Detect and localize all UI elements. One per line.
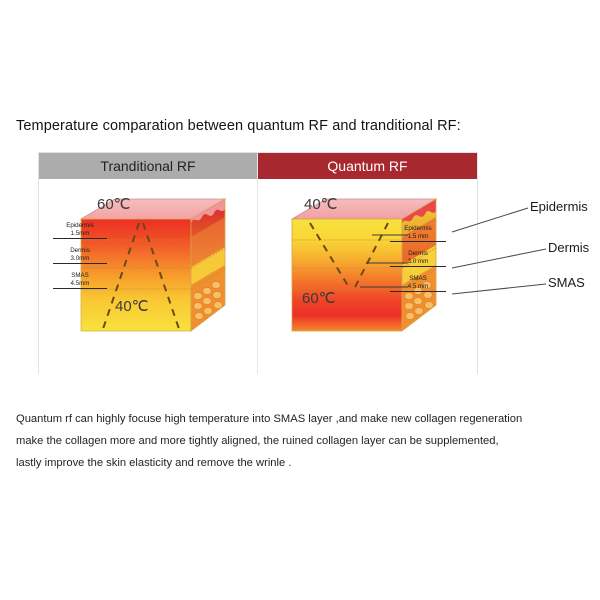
temperature-top-quantum: 40℃ bbox=[304, 195, 338, 213]
callout-label-dermis: Dermis bbox=[548, 240, 589, 255]
description-line-3: lastly improve the skin elasticity and r… bbox=[16, 452, 586, 474]
layer-name: Epidermis bbox=[53, 222, 107, 230]
layer-epidermis-quantum: Epidermis 1.5 mm bbox=[390, 225, 446, 242]
layer-dermis-quantum: Dermis 3.0 mm bbox=[390, 250, 446, 267]
layer-smas-traditional: SMAS 4.5mm bbox=[53, 272, 107, 289]
temperature-bottom-traditional: 40℃ bbox=[115, 297, 149, 315]
layer-epidermis-traditional: Epidermis 1.5mm bbox=[53, 222, 107, 239]
layer-name: SMAS bbox=[390, 275, 446, 283]
temperature-top-traditional: 60℃ bbox=[97, 195, 131, 213]
column-header-traditional: Tranditional RF bbox=[39, 153, 257, 179]
layer-name: SMAS bbox=[53, 272, 107, 280]
page-title: Temperature comparation between quantum … bbox=[16, 118, 461, 134]
layer-labels-quantum: Epidermis 1.5 mm Dermis 3.0 mm SMAS 4.5 … bbox=[390, 225, 446, 300]
layer-dermis-traditional: Dermis 3.0mm bbox=[53, 247, 107, 264]
callout-label-epidermis: Epidermis bbox=[530, 199, 588, 214]
layer-name: Dermis bbox=[53, 247, 107, 255]
comparison-panel: Tranditional RF bbox=[38, 152, 478, 374]
description-paragraph: Quantum rf can highly focuse high temper… bbox=[16, 408, 586, 474]
column-header-quantum: Quantum RF bbox=[258, 153, 477, 179]
callout-label-smas: SMAS bbox=[548, 275, 585, 290]
description-line-1: Quantum rf can highly focuse high temper… bbox=[16, 408, 586, 430]
layer-depth: 4.5mm bbox=[53, 280, 107, 289]
column-body-traditional: 60℃ 40℃ Epidermis 1.5mm Dermis 3.0mm SMA… bbox=[39, 179, 257, 375]
layer-depth: 3.0 mm bbox=[390, 258, 446, 267]
layer-depth: 1.5mm bbox=[53, 230, 107, 239]
column-body-quantum: 40℃ 60℃ Epidermis 1.5 mm Dermis 3.0 mm S… bbox=[258, 179, 477, 375]
layer-name: Dermis bbox=[390, 250, 446, 258]
panel-column-traditional: Tranditional RF bbox=[39, 153, 258, 373]
description-line-2: make the collagen more and more tightly … bbox=[16, 430, 586, 452]
layer-depth: 4.5 mm bbox=[390, 283, 446, 292]
panel-column-quantum: Quantum RF bbox=[258, 153, 477, 373]
layer-name: Epidermis bbox=[390, 225, 446, 233]
temperature-bottom-quantum: 60℃ bbox=[302, 289, 336, 307]
layer-depth: 3.0mm bbox=[53, 255, 107, 264]
layer-smas-quantum: SMAS 4.5 mm bbox=[390, 275, 446, 292]
layer-labels-traditional: Epidermis 1.5mm Dermis 3.0mm SMAS 4.5mm bbox=[53, 222, 107, 297]
layer-depth: 1.5 mm bbox=[390, 233, 446, 242]
